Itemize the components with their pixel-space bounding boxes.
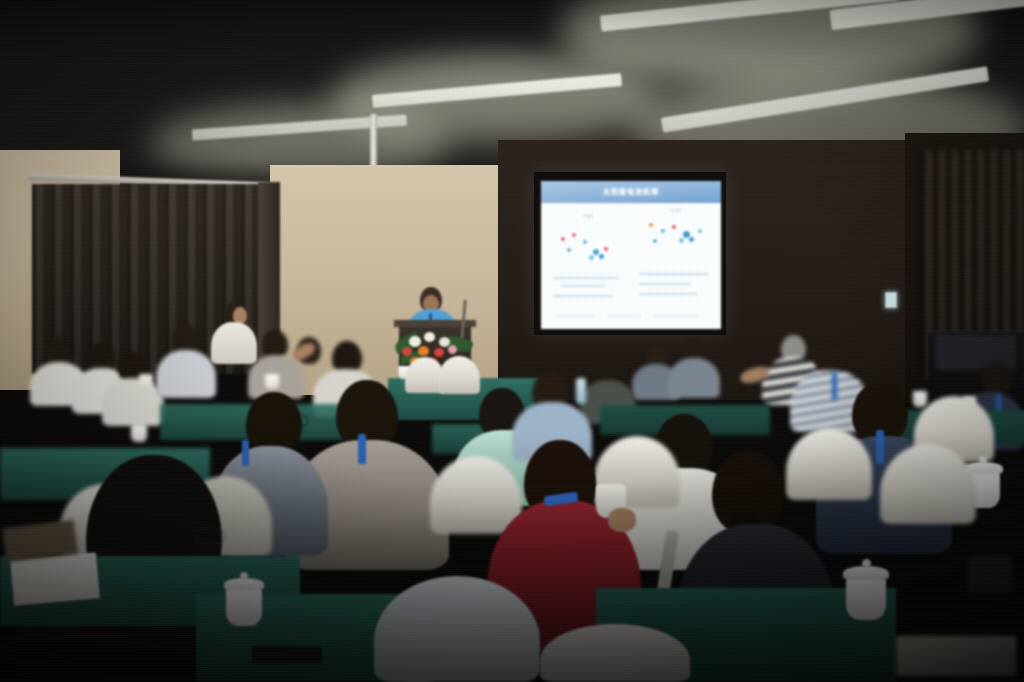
person-lanyard <box>832 372 837 400</box>
notepad <box>10 552 100 605</box>
person-lanyard <box>358 434 366 464</box>
slide-title: 太阳能电池机理 <box>603 187 659 197</box>
slide-title-bar: 太阳能电池机理 <box>541 181 721 203</box>
teacup <box>265 374 279 389</box>
water-bottle <box>576 378 586 404</box>
slide-column-left-heading: n-type <box>545 213 631 218</box>
teacup <box>846 576 886 620</box>
person-hand <box>608 508 636 532</box>
teacup-knob <box>240 572 248 580</box>
teacup <box>226 586 262 626</box>
teacup-knob <box>862 559 871 568</box>
slide-diagram-left <box>555 227 625 265</box>
wall-switch-icon[interactable] <box>884 291 898 309</box>
teacup <box>139 374 153 389</box>
stool <box>968 556 1012 592</box>
person-torso <box>668 358 720 398</box>
slide-column-left: n-type <box>545 203 631 329</box>
glasses-icon <box>286 414 308 427</box>
projector-pole <box>370 114 377 172</box>
person-torso <box>211 322 257 364</box>
glasses-icon <box>62 347 78 357</box>
slide-body: n-type p-type <box>541 203 721 329</box>
mobile-phone <box>252 646 322 664</box>
teacup <box>913 391 927 407</box>
person-head <box>981 362 1012 396</box>
glasses-icon <box>196 528 224 545</box>
printed-material <box>896 636 1016 676</box>
person-lanyard <box>876 430 884 464</box>
slide-column-right: p-type <box>633 203 719 329</box>
person-lanyard <box>242 440 249 466</box>
slide-diagram-right <box>641 217 713 255</box>
conference-room-photo: 太阳能电池机理 n-type <box>0 0 1024 682</box>
teacup-lid <box>843 566 889 580</box>
teacup-knob <box>979 456 987 464</box>
slide-column-right-heading: p-type <box>633 207 719 212</box>
person-torso <box>102 378 164 426</box>
projection-screen: 太阳能电池机理 n-type <box>541 181 721 329</box>
person-torso <box>156 350 216 398</box>
teacup <box>131 424 147 442</box>
